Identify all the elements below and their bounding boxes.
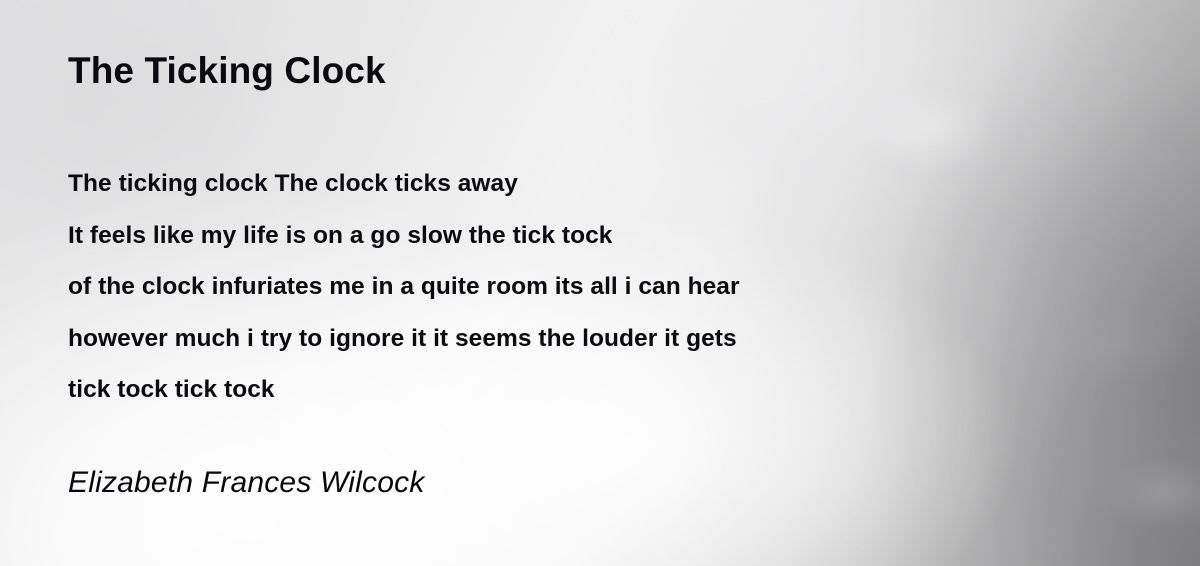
poem-author-name: Elizabeth Frances Wilcock (68, 466, 425, 500)
poem-image-card: The Ticking Clock The ticking clock The … (0, 0, 1200, 566)
poem-line: It feels like my life is on a go slow th… (68, 210, 1128, 262)
poem-body: The ticking clock The clock ticks away I… (68, 158, 1128, 416)
poem-line: however much i try to ignore it it seems… (68, 313, 1128, 365)
poem-line: The ticking clock The clock ticks away (68, 158, 1128, 210)
poem-content: The Ticking Clock The ticking clock The … (0, 0, 1200, 566)
poem-line: of the clock infuriates me in a quite ro… (68, 261, 1128, 313)
poem-title: The Ticking Clock (68, 50, 386, 91)
poem-line: tick tock tick tock (68, 364, 1128, 416)
